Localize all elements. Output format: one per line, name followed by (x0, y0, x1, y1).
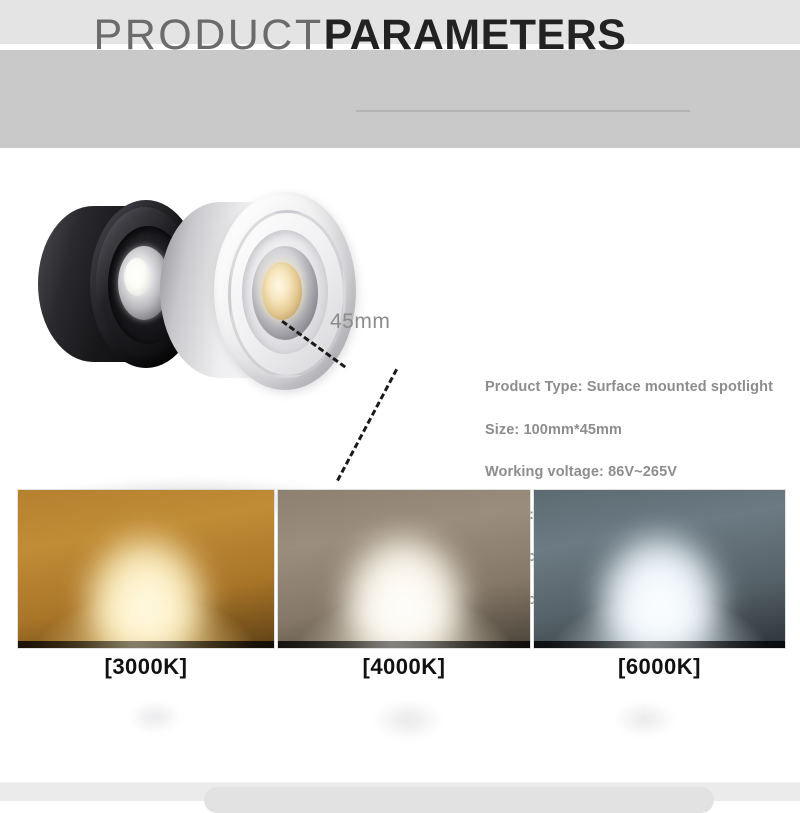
bottom-decorative-band (0, 782, 800, 801)
beam-floor-6000k (534, 641, 785, 648)
color-temp-label-6000k: [6000K] (534, 654, 785, 680)
white-lamp-cob-led (262, 262, 302, 320)
black-lamp-led-core (124, 258, 150, 296)
white-spotlight-image (160, 192, 360, 392)
color-temp-photo-4000k (278, 490, 530, 648)
color-temp-label-4000k: [4000K] (278, 654, 530, 680)
color-temp-photo-6000k (534, 490, 785, 648)
header-band (0, 50, 800, 148)
page-title: PRODUCTPARAMETERS (0, 14, 800, 57)
color-temp-photo-3000k (18, 490, 274, 648)
height-dimension-label: 45mm (330, 310, 390, 334)
spec-size: Size: 100mm*45mm (485, 423, 795, 438)
product-photo-area: 45mm 100mm Product Type: Surface mounted… (0, 148, 800, 480)
spec-working-voltage: Working voltage: 86V~265V (485, 465, 795, 480)
color-temperature-strip (0, 490, 800, 648)
product-parameters-page: PRODUCTPARAMETERS 45mm 100mm Prod (0, 0, 800, 800)
bottom-band-pill (204, 787, 714, 813)
background-smudge (372, 698, 444, 742)
beam-floor-4000k (278, 641, 530, 648)
title-underline (356, 110, 690, 112)
page-title-bold: PARAMETERS (324, 11, 627, 59)
spec-product-type: Product Type: Surface mounted spotlight (485, 380, 795, 395)
page-title-light: PRODUCT (94, 11, 324, 59)
background-smudge (128, 700, 182, 734)
color-temp-label-3000k: [3000K] (18, 654, 274, 680)
beam-floor-3000k (18, 641, 274, 648)
background-smudge (614, 700, 676, 738)
